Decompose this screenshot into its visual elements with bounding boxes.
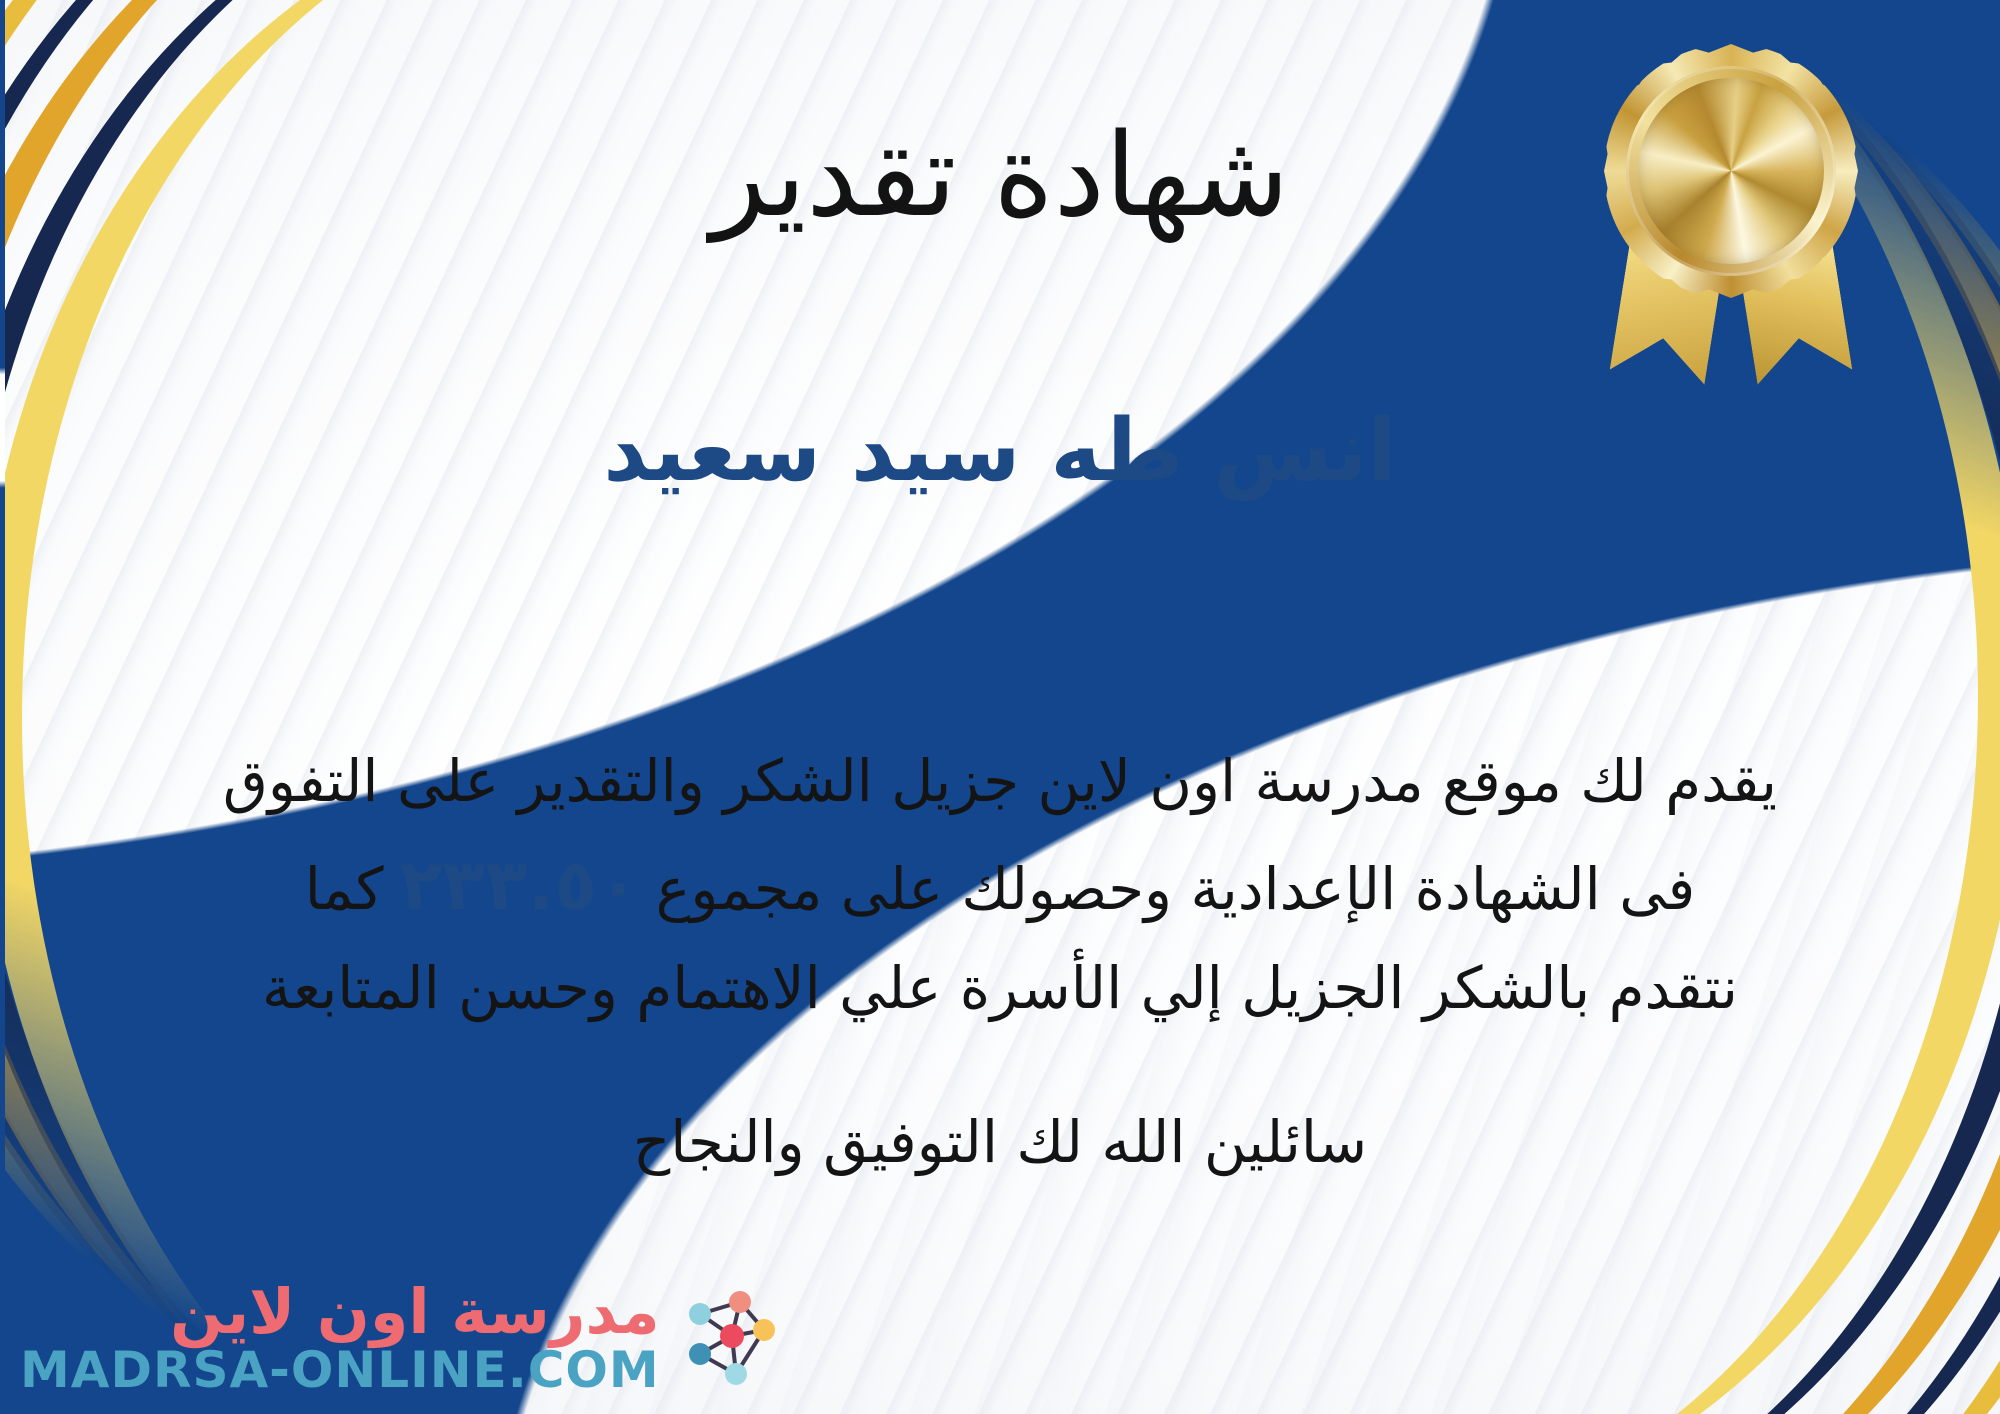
page-title: شهادة تقدير bbox=[0, 116, 2000, 237]
brand-logo[interactable]: مدرسة اون لاين MADRSA-ONLINE.COM bbox=[20, 1280, 782, 1396]
recipient-name: انس طه سيد سعيد bbox=[0, 404, 2000, 499]
body-line-2: فى الشهادة الإعدادية وحصولك على مجموع٢٣٣… bbox=[40, 829, 1960, 942]
certificate-canvas: شهادة تقدير انس طه سيد سعيد يقدم لك موقع… bbox=[0, 0, 2000, 1414]
body-line-1: يقدم لك موقع مدرسة اون لاين جزيل الشكر و… bbox=[40, 735, 1960, 829]
brand-text: مدرسة اون لاين MADRSA-ONLINE.COM bbox=[20, 1280, 660, 1396]
closing-wish-line: سائلين الله لك التوفيق والنجاح bbox=[0, 1108, 2000, 1176]
certificate-content: شهادة تقدير انس طه سيد سعيد يقدم لك موقع… bbox=[0, 0, 2000, 1414]
total-score-value: ٢٣٣.٥٠ bbox=[384, 844, 656, 926]
body-line-3: نتقدم بالشكر الجزيل إلي الأسرة علي الاهت… bbox=[40, 942, 1960, 1036]
network-nodes-icon bbox=[678, 1286, 782, 1390]
body-line-2-suffix: كما bbox=[305, 855, 384, 923]
brand-website: MADRSA-ONLINE.COM bbox=[20, 1344, 660, 1397]
certificate-body: يقدم لك موقع مدرسة اون لاين جزيل الشكر و… bbox=[40, 735, 1960, 1036]
brand-name-arabic: مدرسة اون لاين bbox=[170, 1280, 660, 1343]
body-line-2-prefix: فى الشهادة الإعدادية وحصولك على مجموع bbox=[656, 855, 1696, 923]
